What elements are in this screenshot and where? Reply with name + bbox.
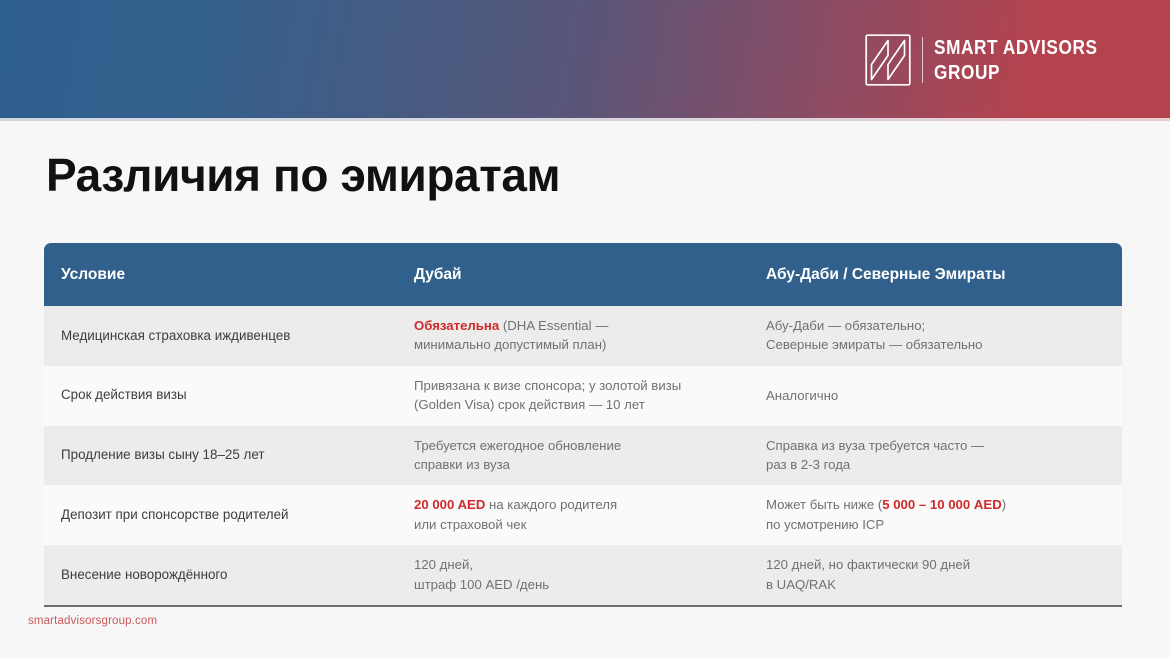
table-row: Депозит при спонсорстве родителей 20 000… [44,485,1122,545]
logo-wordmark-line-1: SMART ADVISORS [934,38,1098,58]
cell-dubai: Требуется ежегодное обновление справки и… [414,426,766,486]
table-header-row: Условие Дубай Абу-Даби / Северные Эмират… [44,243,1122,306]
cell-condition: Продление визы сыну 18–25 лет [44,426,414,486]
cell-condition: Внесение новорождённого [44,545,414,606]
cell-abudhabi: Аналогично [766,366,1122,426]
cell-abudhabi-text-pre: Аналогично [766,388,838,403]
table-header: Условие Дубай Абу-Даби / Северные Эмират… [44,243,1122,306]
cell-dubai-text: Привязана к визе спонсора; у золотой виз… [414,378,681,412]
cell-abudhabi-text-pre: Может быть ниже ( [766,497,882,512]
column-header-abudhabi: Абу-Даби / Северные Эмираты [766,243,1122,306]
cell-dubai: 120 дней, штраф 100 AED /день [414,545,766,606]
accent-text: 5 000 – 10 000 AED [882,497,1002,512]
column-header-dubai: Дубай [414,243,766,306]
cell-abudhabi: Может быть ниже (5 000 – 10 000 AED) по … [766,485,1122,545]
cell-condition: Медицинская страховка иждивенцев [44,306,414,366]
table-row: Внесение новорождённого 120 дней, штраф … [44,545,1122,606]
table-row: Медицинская страховка иждивенцев Обязате… [44,306,1122,366]
table-body: Медицинская страховка иждивенцев Обязате… [44,306,1122,606]
accent-text: 20 000 AED [414,497,485,512]
table-row: Продление визы сыну 18–25 лет Требуется … [44,426,1122,486]
cell-abudhabi-text-pre: Справка из вуза требуется часто — раз в … [766,438,984,472]
cell-dubai: Привязана к визе спонсора; у золотой виз… [414,366,766,426]
emirates-comparison-table: Условие Дубай Абу-Даби / Северные Эмират… [44,243,1122,607]
footer-website-url[interactable]: smartadvisorsgroup.com [28,615,157,627]
cell-condition: Депозит при спонсорстве родителей [44,485,414,545]
header-underline [0,118,1170,121]
brand-logo-lockup: SMART ADVISORS GROUP [865,32,1124,88]
cell-condition: Срок действия визы [44,366,414,426]
cell-dubai-text: Требуется ежегодное обновление справки и… [414,438,621,472]
cell-abudhabi: 120 дней, но фактически 90 дней в UAQ/RA… [766,545,1122,606]
table-row: Срок действия визы Привязана к визе спон… [44,366,1122,426]
logo-wordmark: SMART ADVISORS GROUP [934,38,1124,83]
cell-dubai-text: 120 дней, штраф 100 AED /день [414,557,549,591]
cell-dubai: 20 000 AED на каждого родителя или страх… [414,485,766,545]
cell-abudhabi-text-pre: 120 дней, но фактически 90 дней в UAQ/RA… [766,557,970,591]
cell-dubai: Обязательна (DHA Essential — минимально … [414,306,766,366]
cell-abudhabi: Абу-Даби — обязательно; Северные эмираты… [766,306,1122,366]
logo-divider [922,37,923,83]
accent-text: Обязательна [414,318,499,333]
page-title: Различия по эмиратам [46,148,560,202]
column-header-condition: Условие [44,243,414,306]
cell-abudhabi: Справка из вуза требуется часто — раз в … [766,426,1122,486]
smart-advisors-logo-mark [865,34,911,86]
cell-abudhabi-text-pre: Абу-Даби — обязательно; Северные эмираты… [766,318,983,352]
logo-wordmark-line-2: GROUP [934,63,1098,83]
